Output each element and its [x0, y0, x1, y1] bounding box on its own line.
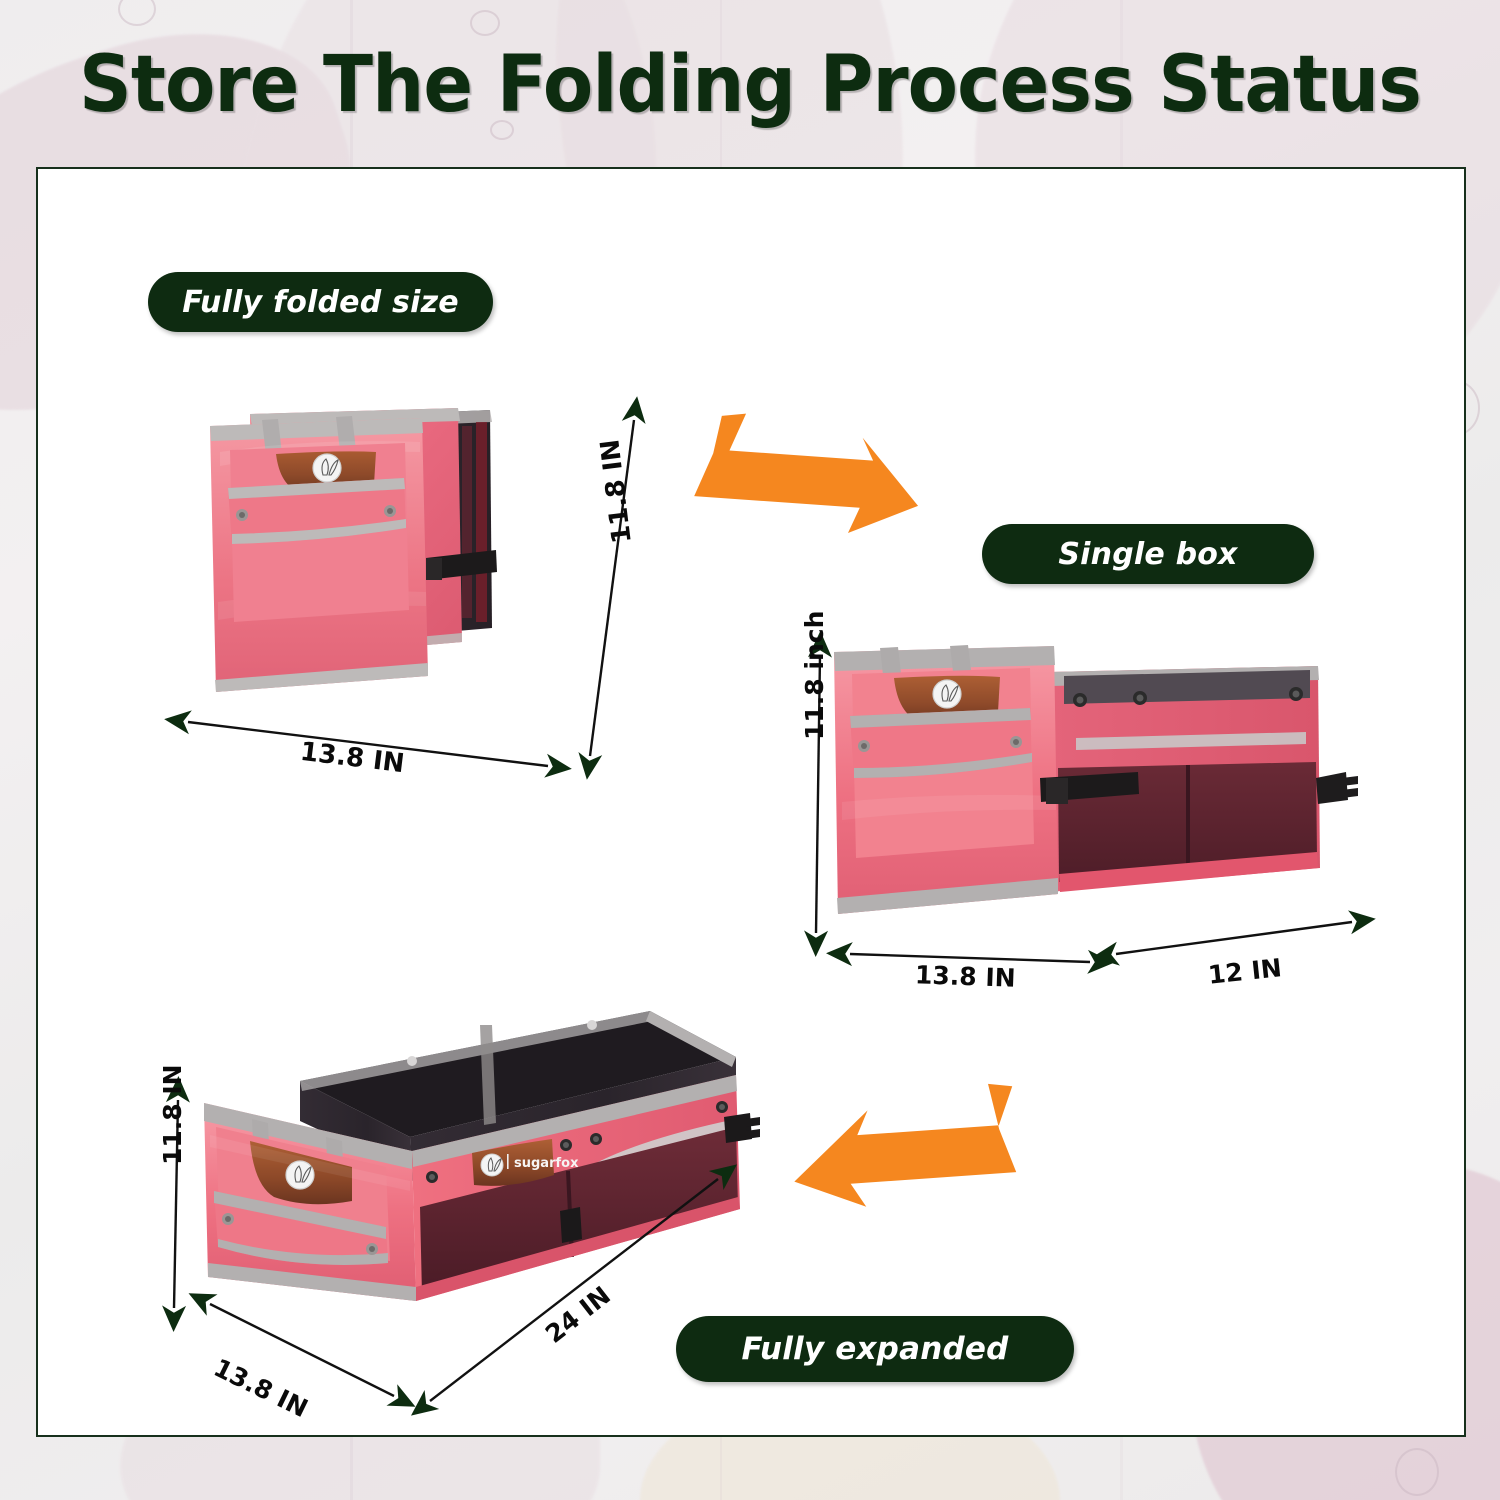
product-folded-illustration [190, 392, 610, 722]
leaf-logo-icon [313, 454, 341, 482]
badge-fully-expanded[interactable]: Fully expanded [676, 1316, 1074, 1382]
dimension-label-single-height: 11.8 inch [800, 611, 829, 740]
folded-front-pocket [228, 443, 409, 622]
badge-fully-folded-size[interactable]: Fully folded size [148, 272, 493, 332]
dimension-label-expanded-height: 11.8 IN [158, 1064, 187, 1165]
badge-single-box[interactable]: Single box [982, 524, 1314, 584]
page-title: Store The Folding Process Status [45, 40, 1455, 130]
single-box-front-face [834, 645, 1058, 914]
arrow-single-to-expanded-icon [778, 1082, 1028, 1212]
arrow-folded-to-single-icon [682, 412, 932, 542]
leaf-logo-icon [933, 680, 961, 708]
expanded-length-dimension [416, 1165, 736, 1415]
product-single-box-illustration [818, 632, 1378, 952]
dimension-label-single-width: 13.8 IN [915, 960, 1017, 992]
